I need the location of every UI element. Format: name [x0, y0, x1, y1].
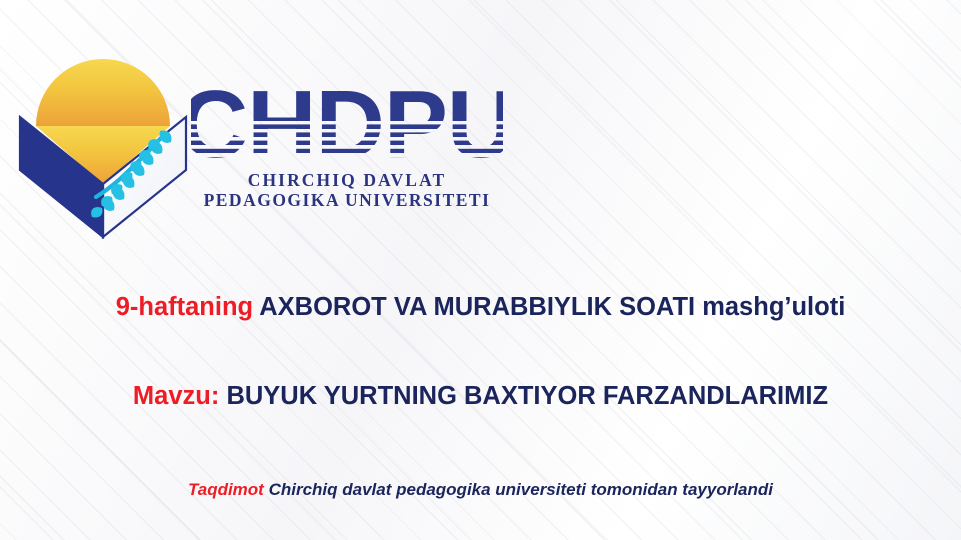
headline-lesson-title: 9-haftaning AXBOROT VA MURABBIYLIK SOATI…	[0, 293, 961, 322]
chdpu-wordmark-icon: CHDPU	[191, 71, 503, 171]
logo-subtitle-line1: CHIRCHIQ DAVLAT	[191, 171, 503, 191]
headline-topic: Mavzu: BUYUK YURTNING BAXTIYOR FARZANDLA…	[0, 382, 961, 411]
logo-wordmark: CHDPU CHIRCHIQ DAVLAT PEDAGOGIKA UNIVERS…	[191, 71, 503, 231]
headline-2-accent: Mavzu:	[133, 382, 219, 410]
logo-emblem-icon	[8, 18, 198, 240]
chdpu-letters: CHDPU	[191, 71, 503, 171]
logo-subtitle-line2: PEDAGOGIKA UNIVERSITETI	[191, 191, 503, 211]
headline-2-rest: BUYUK YURTNING BAXTIYOR FARZANDLARIMIZ	[219, 382, 828, 410]
headline-1-accent: 9-haftaning	[116, 293, 253, 321]
logo-subtitle: CHIRCHIQ DAVLAT PEDAGOGIKA UNIVERSITETI	[191, 171, 503, 210]
university-logo: CHDPU CHIRCHIQ DAVLAT PEDAGOGIKA UNIVERS…	[8, 18, 508, 238]
credit-rest: Chirchiq davlat pedagogika universiteti …	[264, 480, 773, 499]
headline-1-rest: AXBOROT VA MURABBIYLIK SOATI mashg’uloti	[253, 293, 845, 321]
credit-accent: Taqdimot	[188, 480, 264, 499]
presentation-slide: CHDPU CHIRCHIQ DAVLAT PEDAGOGIKA UNIVERS…	[0, 0, 961, 540]
credit-line: Taqdimot Chirchiq davlat pedagogika univ…	[0, 480, 961, 500]
